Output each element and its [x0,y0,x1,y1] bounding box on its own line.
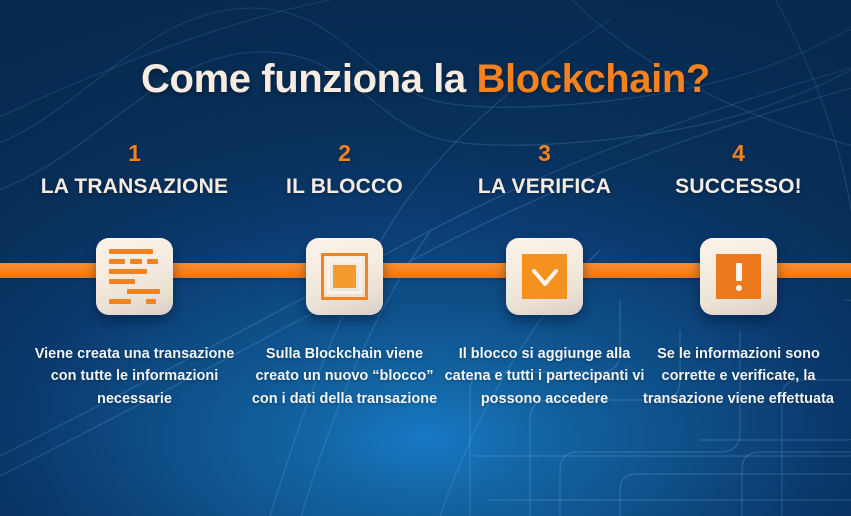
nested-block-icon [321,253,368,300]
step-body-4: Se le informazioni sono corrette e verif… [632,343,845,410]
step-icon-tile-3[interactable] [506,238,583,315]
step-header-2: 2 IL BLOCCO [238,142,451,199]
step-body-3: Il blocco si aggiunge alla catena e tutt… [438,343,651,410]
exclamation-square-icon [716,254,761,299]
step-number-2: 2 [238,142,451,165]
step-tile-wrap-1 [28,238,241,315]
step-number-4: 4 [632,142,845,165]
step-icon-tile-1[interactable] [96,238,173,315]
document-lines-icon [109,249,160,304]
page-title: Come funziona la Blockchain? [0,57,851,102]
step-title-4: SUCCESSO! [632,175,845,199]
step-tile-wrap-4 [632,238,845,315]
step-icon-tile-2[interactable] [306,238,383,315]
step-body-2: Sulla Blockchain viene creato un nuovo “… [238,343,451,410]
check-square-icon [522,254,567,299]
title-text-main: Come funziona la [141,57,476,101]
step-tile-wrap-2 [238,238,451,315]
step-icon-tile-4[interactable] [700,238,777,315]
step-tile-wrap-3 [438,238,651,315]
step-number-1: 1 [28,142,241,165]
step-body-1: Viene creata una transazione con tutte l… [28,343,241,410]
step-header-3: 3 LA VERIFICA [438,142,651,199]
step-title-2: IL BLOCCO [238,175,451,199]
step-title-1: LA TRANSAZIONE [28,175,241,199]
title-text-accent: Blockchain? [477,57,710,101]
step-title-3: LA VERIFICA [438,175,651,199]
step-number-3: 3 [438,142,651,165]
infographic-canvas: Come funziona la Blockchain? 1 LA TRANSA… [0,0,851,516]
step-header-1: 1 LA TRANSAZIONE [28,142,241,199]
step-header-4: 4 SUCCESSO! [632,142,845,199]
